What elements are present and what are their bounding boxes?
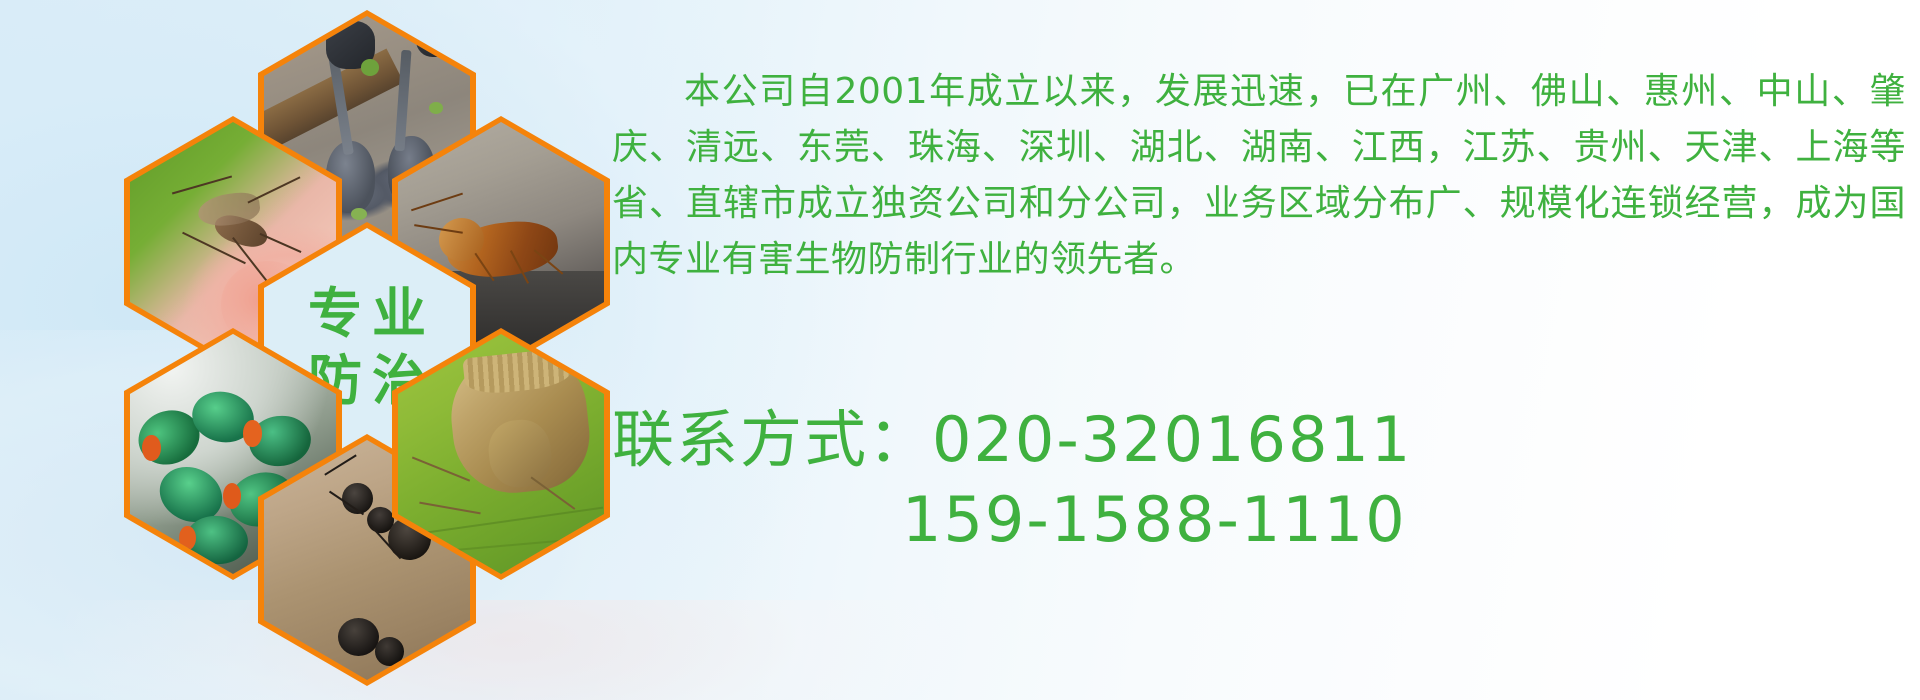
about-copy-block: 本公司自2001年成立以来，发展迅速，已在广州、佛山、惠州、中山、肇庆、清远、东… bbox=[612, 28, 1912, 324]
contact-line-secondary[interactable]: 159-1588-1110 bbox=[612, 480, 1912, 560]
hexagon-stinkbug-clip bbox=[398, 334, 604, 574]
pest-control-banner: 专业 防治 bbox=[0, 0, 1920, 700]
contact-block: 联系方式：020-32016811 159-1588-1110 bbox=[612, 400, 1912, 560]
contact-line-primary[interactable]: 联系方式：020-32016811 bbox=[612, 400, 1912, 480]
stinkbug-photo bbox=[398, 334, 604, 574]
about-paragraph: 本公司自2001年成立以来，发展迅速，已在广州、佛山、惠州、中山、肇庆、清远、东… bbox=[612, 64, 1906, 288]
hexagon-collage: 专业 防治 bbox=[0, 0, 640, 700]
badge-line-1: 专业 bbox=[298, 286, 436, 343]
